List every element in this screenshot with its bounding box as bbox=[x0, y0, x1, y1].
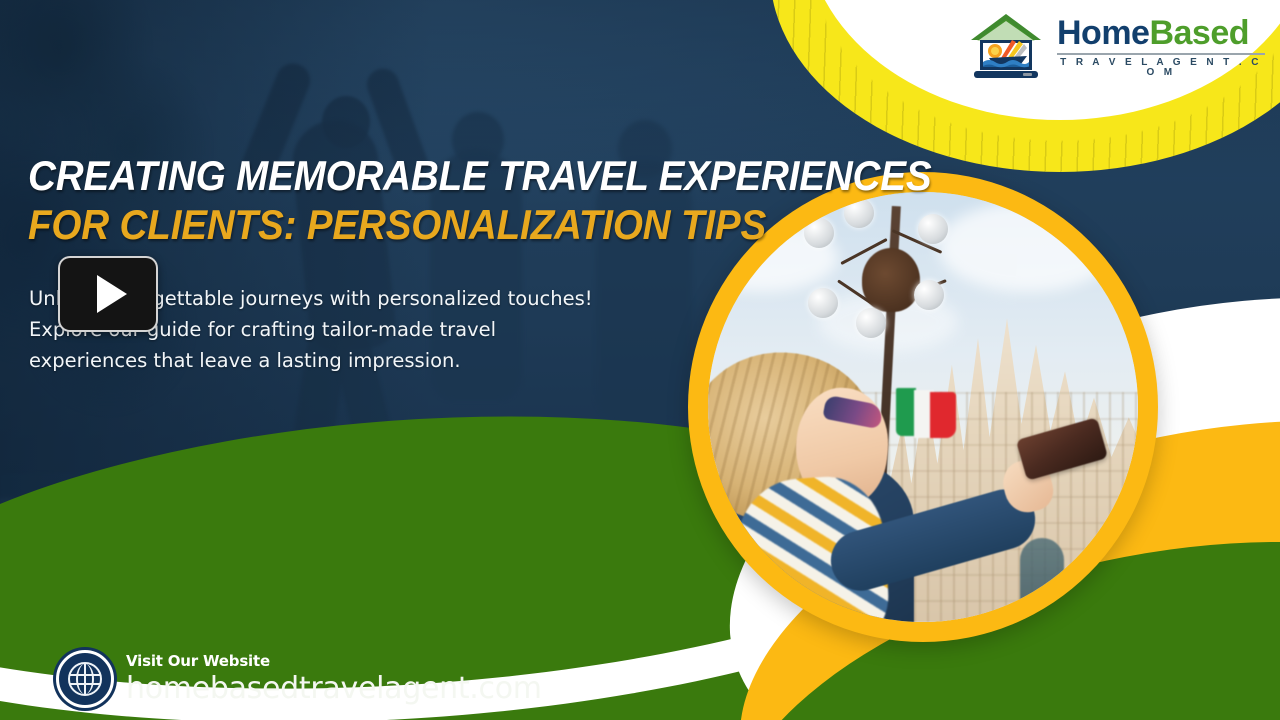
flag-red-band bbox=[930, 392, 956, 438]
photo-lamp-bulb bbox=[844, 198, 874, 228]
footer-website-block[interactable]: Visit Our Website homebasedtravelagent.c… bbox=[56, 650, 542, 708]
globe-sphere bbox=[68, 662, 102, 696]
photo-lamp-bulb bbox=[808, 288, 838, 318]
visit-our-website-label: Visit Our Website bbox=[126, 654, 542, 669]
photo-lamp-hub bbox=[862, 248, 920, 312]
brand-logo[interactable]: HomeBased T R A V E L A G E N T . C O M bbox=[965, 6, 1265, 88]
house-laptop-travel-icon bbox=[965, 10, 1047, 84]
photo-cloud bbox=[938, 202, 1118, 292]
logo-text-based: Based bbox=[1149, 14, 1249, 52]
logo-divider bbox=[1057, 53, 1265, 55]
globe-parallel bbox=[70, 683, 100, 685]
website-url[interactable]: homebasedtravelagent.com bbox=[126, 674, 542, 704]
subcopy-line-3: experiences that leave a lasting impress… bbox=[29, 345, 709, 376]
footer-text: Visit Our Website homebasedtravelagent.c… bbox=[126, 654, 542, 704]
photo-lamp-bulb bbox=[856, 308, 886, 338]
logo-text-home: Home bbox=[1057, 14, 1149, 52]
play-triangle-icon bbox=[97, 275, 127, 313]
headline-line-2: FOR CLIENTS: PERSONALIZATION TIPS bbox=[28, 201, 764, 250]
photo-lamp-bulb bbox=[918, 214, 948, 244]
travel-photo bbox=[708, 192, 1138, 622]
play-button[interactable] bbox=[58, 256, 158, 332]
headline-block: CREATING MEMORABLE TRAVEL EXPERIENCES FO… bbox=[28, 152, 828, 249]
photo-duomo-door bbox=[1020, 538, 1064, 622]
globe-icon bbox=[56, 650, 114, 708]
logo-wordmark: HomeBased T R A V E L A G E N T . C O M bbox=[1057, 16, 1265, 78]
headline-line-1: CREATING MEMORABLE TRAVEL EXPERIENCES bbox=[28, 152, 764, 201]
photo-lamp-bulb bbox=[914, 280, 944, 310]
photo-italian-flag bbox=[896, 388, 958, 440]
globe-meridian-curve bbox=[76, 664, 94, 694]
logo-main-text: HomeBased bbox=[1057, 16, 1265, 50]
flag-green-band bbox=[896, 388, 916, 436]
logo-sub-text: T R A V E L A G E N T . C O M bbox=[1057, 58, 1265, 78]
slide-canvas: HomeBased T R A V E L A G E N T . C O M … bbox=[0, 0, 1280, 720]
globe-parallel bbox=[70, 674, 100, 676]
